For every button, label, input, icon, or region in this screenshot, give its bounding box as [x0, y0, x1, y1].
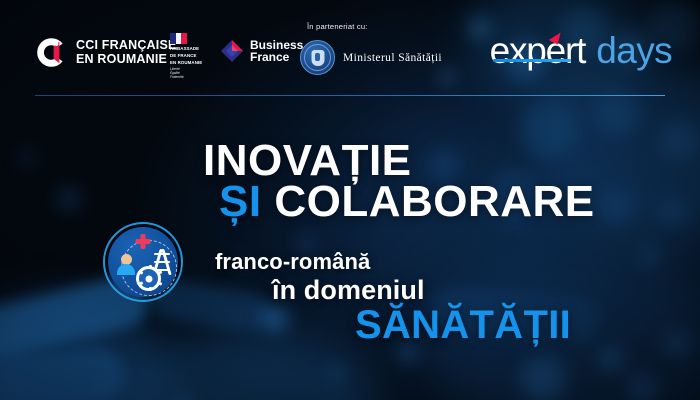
brand-expert-text: expert: [490, 30, 586, 71]
partnership-label: În parteneriat cu:: [307, 22, 368, 31]
medical-cross-icon: [136, 234, 151, 249]
header-logo-bar: CCI FRANÇAISE EN ROUMANIE AMBASSADE DE F…: [0, 0, 700, 96]
brand-logo-expert-days[interactable]: expert days: [490, 32, 672, 69]
ambassade-line-2: DE FRANCE: [170, 53, 210, 58]
french-flag-icon: [170, 33, 187, 44]
ministry-name: Ministerul Sănătății: [343, 52, 442, 64]
badge-disc: [108, 227, 178, 297]
logo-ministerul-sanatatii[interactable]: Ministerul Sănătății: [300, 40, 442, 75]
ambassade-line-3: EN ROUMANIE: [170, 60, 210, 65]
romanian-government-seal-icon: [300, 40, 335, 75]
cci-circle-mark-icon: [35, 36, 68, 69]
gear-icon: [136, 266, 161, 291]
motto-fraternite: Fraternité: [170, 76, 210, 80]
logo-cci-francaise-en-roumanie[interactable]: CCI FRANÇAISE EN ROUMANIE: [35, 36, 177, 69]
patient-icon: [117, 254, 135, 275]
business-france-arrow-mark-icon: [219, 38, 245, 64]
cci-logo-text: CCI FRANÇAISE EN ROUMANIE: [76, 39, 177, 66]
business-france-text: Business France: [250, 39, 303, 64]
brand-swoosh-accent: [493, 59, 571, 62]
header-divider: [35, 95, 665, 96]
logo-ambassade-de-france-en-roumanie[interactable]: AMBASSADE DE FRANCE EN ROUMANIE Liberté …: [170, 33, 210, 80]
event-promo-banner: CCI FRANÇAISE EN ROUMANIE AMBASSADE DE F…: [0, 0, 700, 400]
brand-word-days: days: [596, 32, 672, 69]
healthcare-innovation-badge: [103, 222, 183, 302]
brand-word-expert: expert: [490, 32, 586, 69]
ambassade-line-1: AMBASSADE: [170, 46, 210, 51]
logo-business-france[interactable]: Business France: [219, 38, 303, 64]
